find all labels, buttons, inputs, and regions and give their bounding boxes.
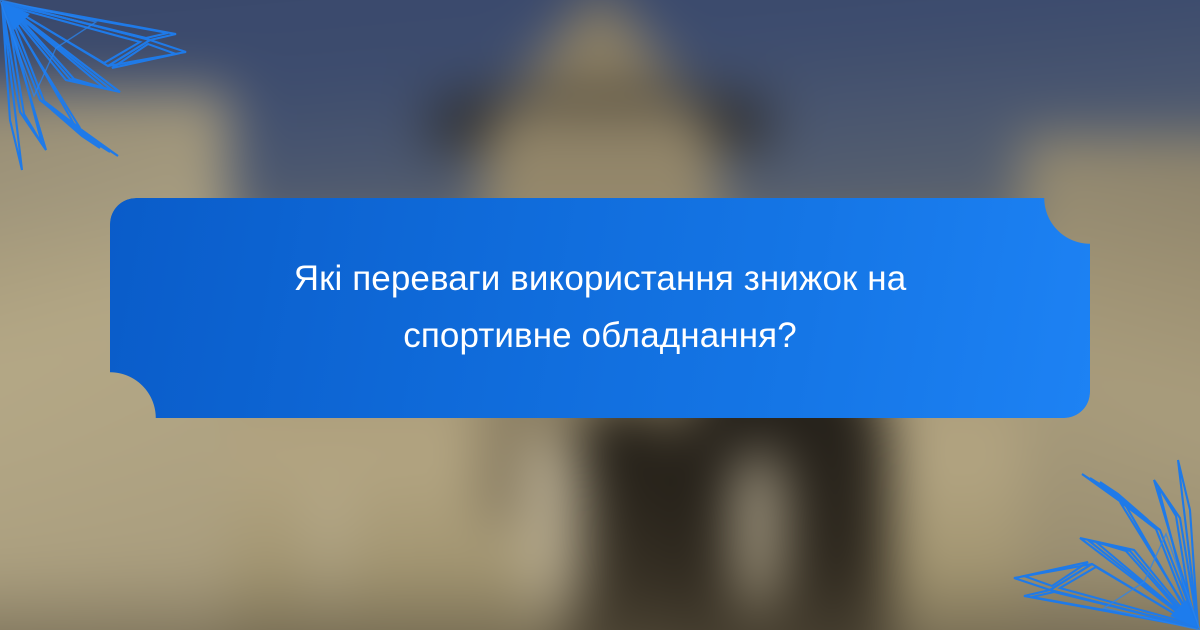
social-card: Які переваги використання знижок на спор… [0, 0, 1200, 630]
background-foreground-shade [0, 570, 1200, 630]
question-banner-content: Які переваги використання знижок на спор… [110, 198, 1090, 418]
question-title: Які переваги використання знижок на спор… [270, 251, 930, 364]
